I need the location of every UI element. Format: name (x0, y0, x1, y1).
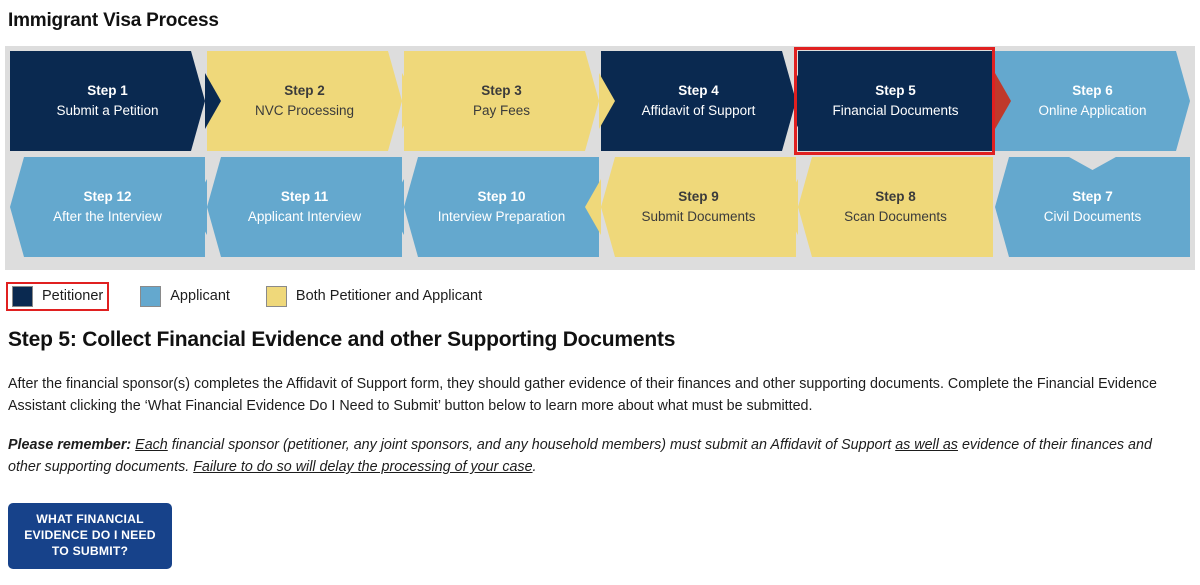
note-text-3: . (533, 459, 537, 475)
note-text-1: financial sponsor (petitioner, any joint… (168, 437, 895, 453)
flow-step-6[interactable]: Step 6 Online Application (995, 51, 1190, 151)
chevron-right-icon (205, 73, 221, 129)
flow-step-12-body (10, 157, 205, 257)
please-remember-lead: Please remember: (8, 437, 131, 453)
flow-step-9[interactable]: Step 9 Submit Documents (601, 157, 796, 257)
flow-step-1[interactable]: Step 1 Submit a Petition (10, 51, 205, 151)
note-emphasis-as-well-as: as well as (895, 437, 958, 453)
visa-process-flowchart: Step 1 Submit a Petition Step 2 NVC Proc… (5, 46, 1195, 270)
flow-step-5-current[interactable]: Step 5 Financial Documents (798, 51, 993, 151)
legend-label-petitioner: Petitioner (42, 288, 103, 304)
legend-swatch-applicant (140, 286, 161, 307)
legend-label-both: Both Petitioner and Applicant (296, 288, 482, 304)
flow-step-7-body (995, 157, 1190, 257)
flow-step-8-body (798, 157, 993, 257)
chevron-left-icon (585, 179, 601, 235)
flow-step-3-body (404, 51, 599, 151)
chevron-right-icon (402, 73, 418, 129)
legend-item-both: Both Petitioner and Applicant (261, 283, 487, 310)
legend-label-applicant: Applicant (170, 288, 230, 304)
legend-swatch-petitioner (12, 286, 33, 307)
chevron-left-icon (782, 179, 798, 235)
legend-item-applicant: Applicant (135, 283, 235, 310)
flow-step-8[interactable]: Step 8 Scan Documents (798, 157, 993, 257)
please-remember-paragraph: Please remember: Each financial sponsor … (8, 435, 1178, 478)
chevron-left-icon (388, 179, 404, 235)
note-emphasis-each: Each (135, 437, 168, 453)
flow-step-4[interactable]: Step 4 Affidavit of Support (601, 51, 796, 151)
note-emphasis-failure: Failure to do so will delay the processi… (193, 459, 532, 475)
what-financial-evidence-button[interactable]: What Financial Evidence Do I Need to Sub… (8, 503, 172, 569)
intro-paragraph: After the financial sponsor(s) completes… (8, 374, 1178, 417)
flow-step-1-body (10, 51, 205, 151)
flow-step-2[interactable]: Step 2 NVC Processing (207, 51, 402, 151)
legend-item-petitioner: Petitioner (6, 282, 109, 311)
flow-step-10-body (404, 157, 599, 257)
flow-step-9-body (601, 157, 796, 257)
flow-step-4-body (601, 51, 796, 151)
legend-swatch-both (266, 286, 287, 307)
flow-row-top: Step 1 Submit a Petition Step 2 NVC Proc… (10, 51, 1190, 151)
section-heading: Step 5: Collect Financial Evidence and o… (8, 328, 1192, 352)
chevron-right-icon (995, 73, 1011, 129)
flow-step-2-body (207, 51, 402, 151)
flow-step-10[interactable]: Step 10 Interview Preparation (404, 157, 599, 257)
step-article: Step 5: Collect Financial Evidence and o… (8, 328, 1192, 479)
chevron-right-icon (796, 73, 812, 129)
chevron-left-icon (191, 179, 207, 235)
chevron-right-icon (599, 73, 615, 129)
flow-step-5-body (798, 51, 993, 151)
flow-step-11-body (207, 157, 402, 257)
page-title: Immigrant Visa Process (0, 0, 1200, 32)
flow-step-6-body (995, 51, 1190, 151)
flow-step-12[interactable]: Step 12 After the Interview (10, 157, 205, 257)
flow-step-3[interactable]: Step 3 Pay Fees (404, 51, 599, 151)
flow-step-11[interactable]: Step 11 Applicant Interview (207, 157, 402, 257)
flow-step-7[interactable]: Step 7 Civil Documents (995, 157, 1190, 257)
flowchart-legend: Petitioner Applicant Both Petitioner and… (6, 282, 1200, 310)
flow-row-bottom: Step 12 After the Interview Step 11 Appl… (10, 157, 1190, 257)
